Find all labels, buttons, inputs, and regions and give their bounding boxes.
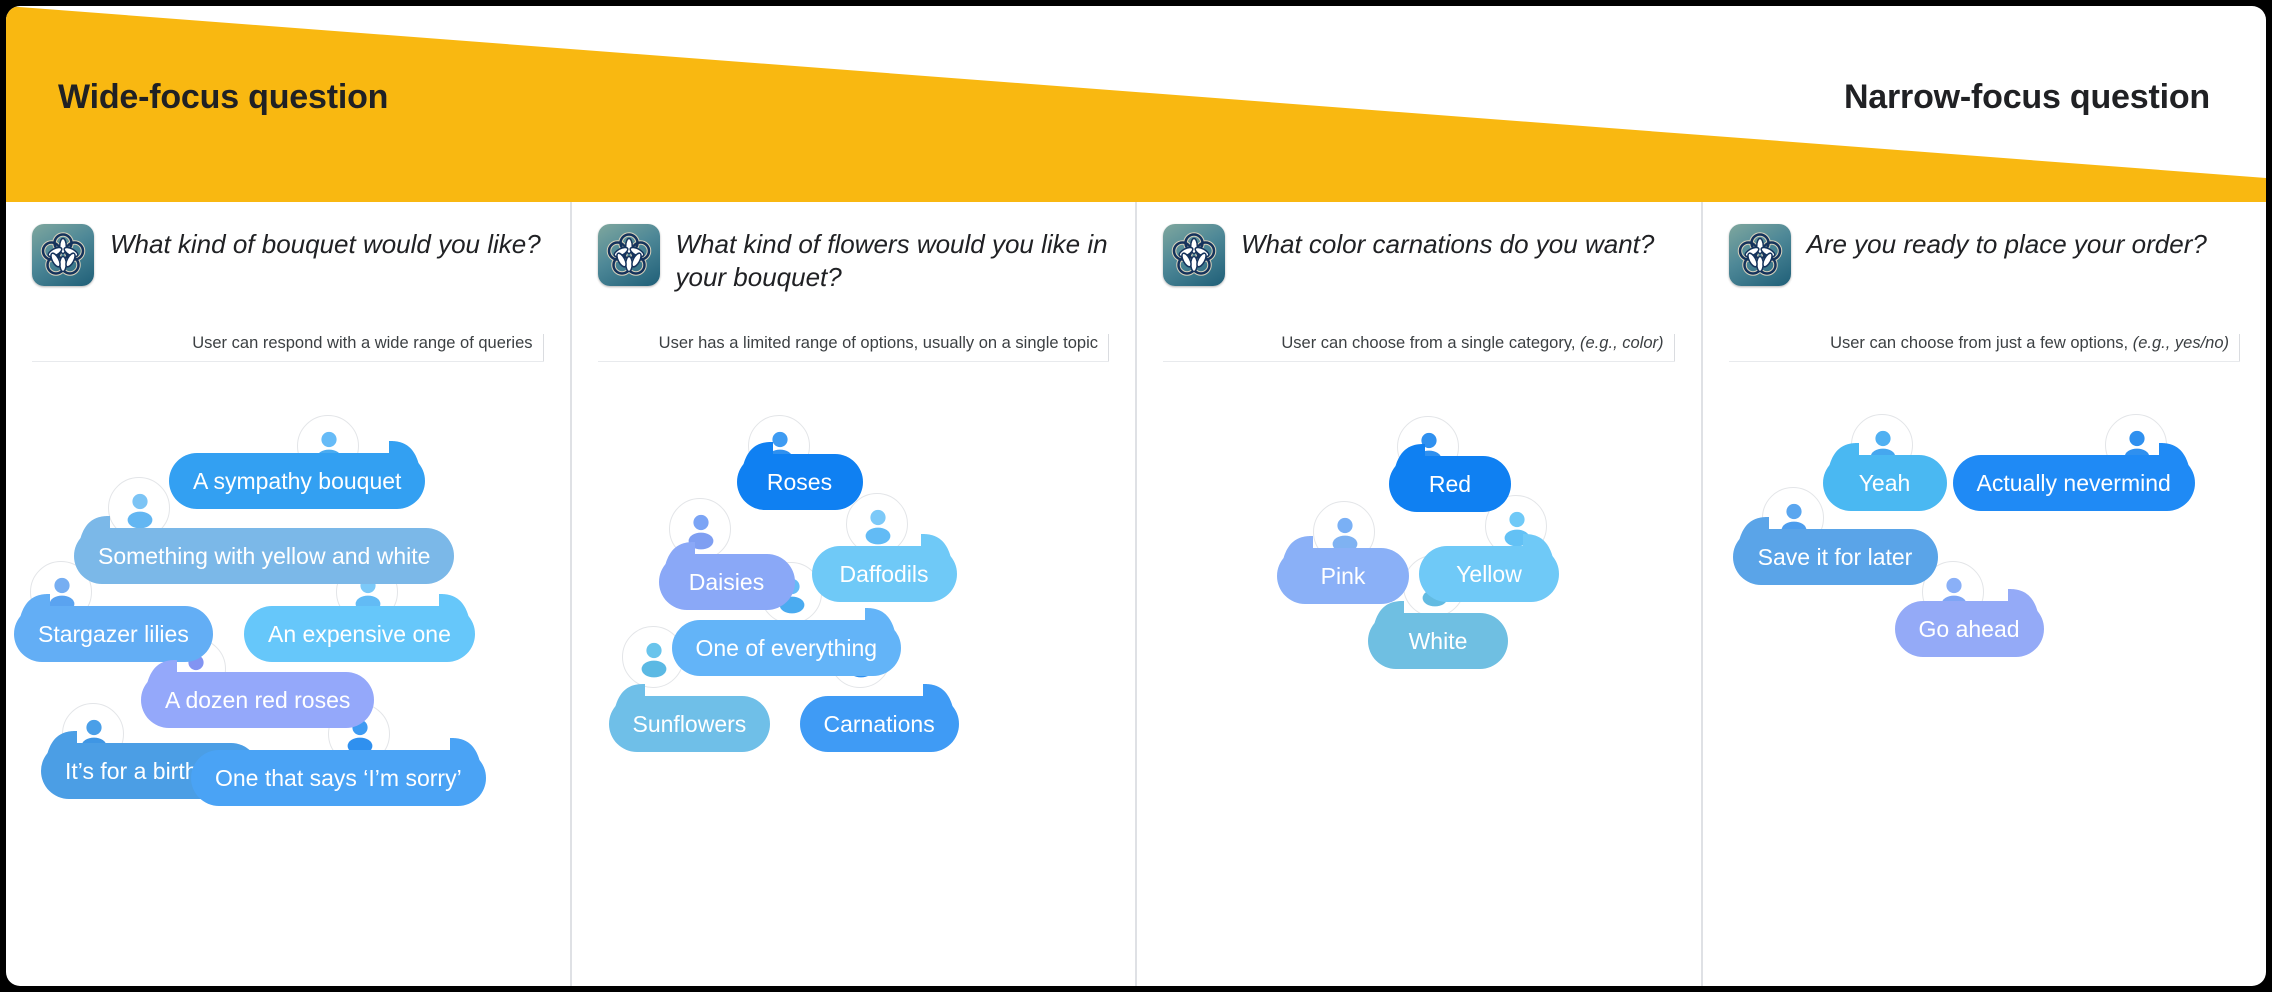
suggestion-chip[interactable]: A dozen red roses: [141, 672, 374, 728]
chip-tail: [1829, 441, 1859, 467]
suggestion-chip[interactable]: Pink: [1277, 548, 1409, 604]
caption-divider: [1729, 361, 2241, 362]
column-caption: User can choose from just a few options,…: [1820, 334, 2240, 361]
chip-label: Actually nevermind: [1977, 470, 2171, 497]
column-question: What color carnations do you want?: [1241, 224, 1654, 261]
chip-label: Something with yellow and white: [98, 543, 430, 570]
chip-tail: [1523, 532, 1553, 558]
suggestion-chip[interactable]: Something with yellow and white: [74, 528, 454, 584]
chip-tail: [1395, 442, 1425, 468]
chip-label: An expensive one: [268, 621, 451, 648]
column-caption-wrap: User can choose from just a few options,…: [1729, 334, 2241, 362]
suggestion-chip[interactable]: Roses: [737, 454, 863, 510]
suggestion-chip[interactable]: Daisies: [659, 554, 795, 610]
column-caption-wrap: User has a limited range of options, usu…: [598, 334, 1110, 362]
flower-rosette-icon: [32, 224, 94, 286]
caption-example: (e.g., color): [1580, 334, 1663, 352]
chip-label: Yeah: [1859, 470, 1911, 497]
chip-tail: [20, 592, 50, 618]
flower-rosette-icon: [1729, 224, 1791, 286]
chip-label: Save it for later: [1758, 544, 1913, 571]
suggestion-chip[interactable]: An expensive one: [244, 606, 475, 662]
suggestion-chip[interactable]: Red: [1389, 456, 1511, 512]
diagram-card: Wide-focus question Narrow-focus questio…: [6, 6, 2266, 986]
chip-tail: [923, 682, 953, 708]
column-header: What kind of flowers would you like in y…: [572, 202, 1136, 352]
column-caption: User can respond with a wide range of qu…: [182, 334, 543, 361]
suggestion-chip[interactable]: Yellow: [1419, 546, 1559, 602]
chip-tail: [921, 532, 951, 558]
chip-tail: [1739, 515, 1769, 541]
chip-label: Daisies: [689, 569, 764, 596]
chip-label: Pink: [1321, 563, 1366, 590]
chip-tail: [439, 592, 469, 618]
flower-rosette-icon: [598, 224, 660, 286]
suggestion-stage: YeahActually nevermindSave it for laterG…: [1703, 398, 2267, 986]
chip-tail: [1283, 534, 1313, 560]
suggestion-stage: RedPinkYellowWhite: [1137, 398, 1701, 986]
suggestion-chip[interactable]: Yeah: [1823, 455, 1947, 511]
column-caption-wrap: User can respond with a wide range of qu…: [32, 334, 544, 362]
chip-tail: [47, 729, 77, 755]
column-question: Are you ready to place your order?: [1807, 224, 2207, 261]
chip-tail: [389, 439, 419, 465]
flower-rosette-icon: [1163, 224, 1225, 286]
column-container: What kind of bouquet would you like? Use…: [6, 202, 2266, 986]
chip-tail: [2159, 441, 2189, 467]
chip-label: Go ahead: [1919, 616, 2020, 643]
caption-example: (e.g., yes/no): [2133, 334, 2229, 352]
suggestion-chip[interactable]: One of everything: [672, 620, 902, 676]
caption-divider: [598, 361, 1110, 362]
caption-divider: [1163, 361, 1675, 362]
chip-tail: [615, 682, 645, 708]
question-column-single-category: What color carnations do you want? User …: [1135, 202, 1701, 986]
suggestion-chip[interactable]: Stargazer lilies: [14, 606, 213, 662]
column-question: What kind of flowers would you like in y…: [676, 224, 1110, 295]
chip-label: One that says ‘I’m sorry’: [215, 765, 462, 792]
banner-right-label: Narrow-focus question: [1844, 78, 2210, 117]
column-header: What color carnations do you want? User …: [1137, 202, 1701, 352]
suggestion-stage: RosesDaisiesDaffodilsOne of everythingSu…: [572, 398, 1136, 986]
chip-label: Red: [1429, 471, 1471, 498]
chip-label: Yellow: [1456, 561, 1522, 588]
chip-label: One of everything: [696, 635, 878, 662]
chip-label: Roses: [767, 469, 832, 496]
chip-label: Carnations: [824, 711, 935, 738]
suggestion-chip[interactable]: One that says ‘I’m sorry’: [191, 750, 486, 806]
column-caption: User has a limited range of options, usu…: [649, 334, 1109, 361]
suggestion-chip[interactable]: Carnations: [800, 696, 959, 752]
suggestion-chip[interactable]: Save it for later: [1733, 529, 1938, 585]
chip-tail: [450, 736, 480, 762]
suggestion-chip[interactable]: Sunflowers: [609, 696, 771, 752]
chip-label: Stargazer lilies: [38, 621, 189, 648]
suggestion-stage: A sympathy bouquetSomething with yellow …: [6, 398, 570, 986]
chip-tail: [2008, 587, 2038, 613]
question-column-few-options: Are you ready to place your order? User …: [1701, 202, 2267, 986]
column-question: What kind of bouquet would you like?: [110, 224, 541, 261]
caption-divider: [32, 361, 544, 362]
chip-label: Sunflowers: [633, 711, 747, 738]
chip-tail: [665, 540, 695, 566]
banner-left-label: Wide-focus question: [58, 78, 388, 117]
suggestion-chip[interactable]: Go ahead: [1895, 601, 2044, 657]
chip-tail: [147, 658, 177, 684]
gradient-wedge-banner: Wide-focus question Narrow-focus questio…: [6, 6, 2266, 202]
column-header: Are you ready to place your order? User …: [1703, 202, 2267, 352]
chip-label: A sympathy bouquet: [193, 468, 401, 495]
suggestion-chip[interactable]: Daffodils: [812, 546, 957, 602]
chip-tail: [80, 514, 110, 540]
chip-label: A dozen red roses: [165, 687, 350, 714]
chip-tail: [865, 606, 895, 632]
column-header: What kind of bouquet would you like? Use…: [6, 202, 570, 352]
suggestion-chip[interactable]: Actually nevermind: [1953, 455, 2195, 511]
question-column-limited-range: What kind of flowers would you like in y…: [570, 202, 1136, 986]
chip-tail: [1374, 599, 1404, 625]
column-caption: User can choose from a single category, …: [1271, 334, 1674, 361]
suggestion-chip[interactable]: A sympathy bouquet: [169, 453, 425, 509]
chip-tail: [743, 440, 773, 466]
question-column-wide-focus: What kind of bouquet would you like? Use…: [6, 202, 570, 986]
chip-label: Daffodils: [839, 561, 928, 588]
column-caption-wrap: User can choose from a single category, …: [1163, 334, 1675, 362]
chip-label: White: [1409, 628, 1468, 655]
suggestion-chip[interactable]: White: [1368, 613, 1508, 669]
